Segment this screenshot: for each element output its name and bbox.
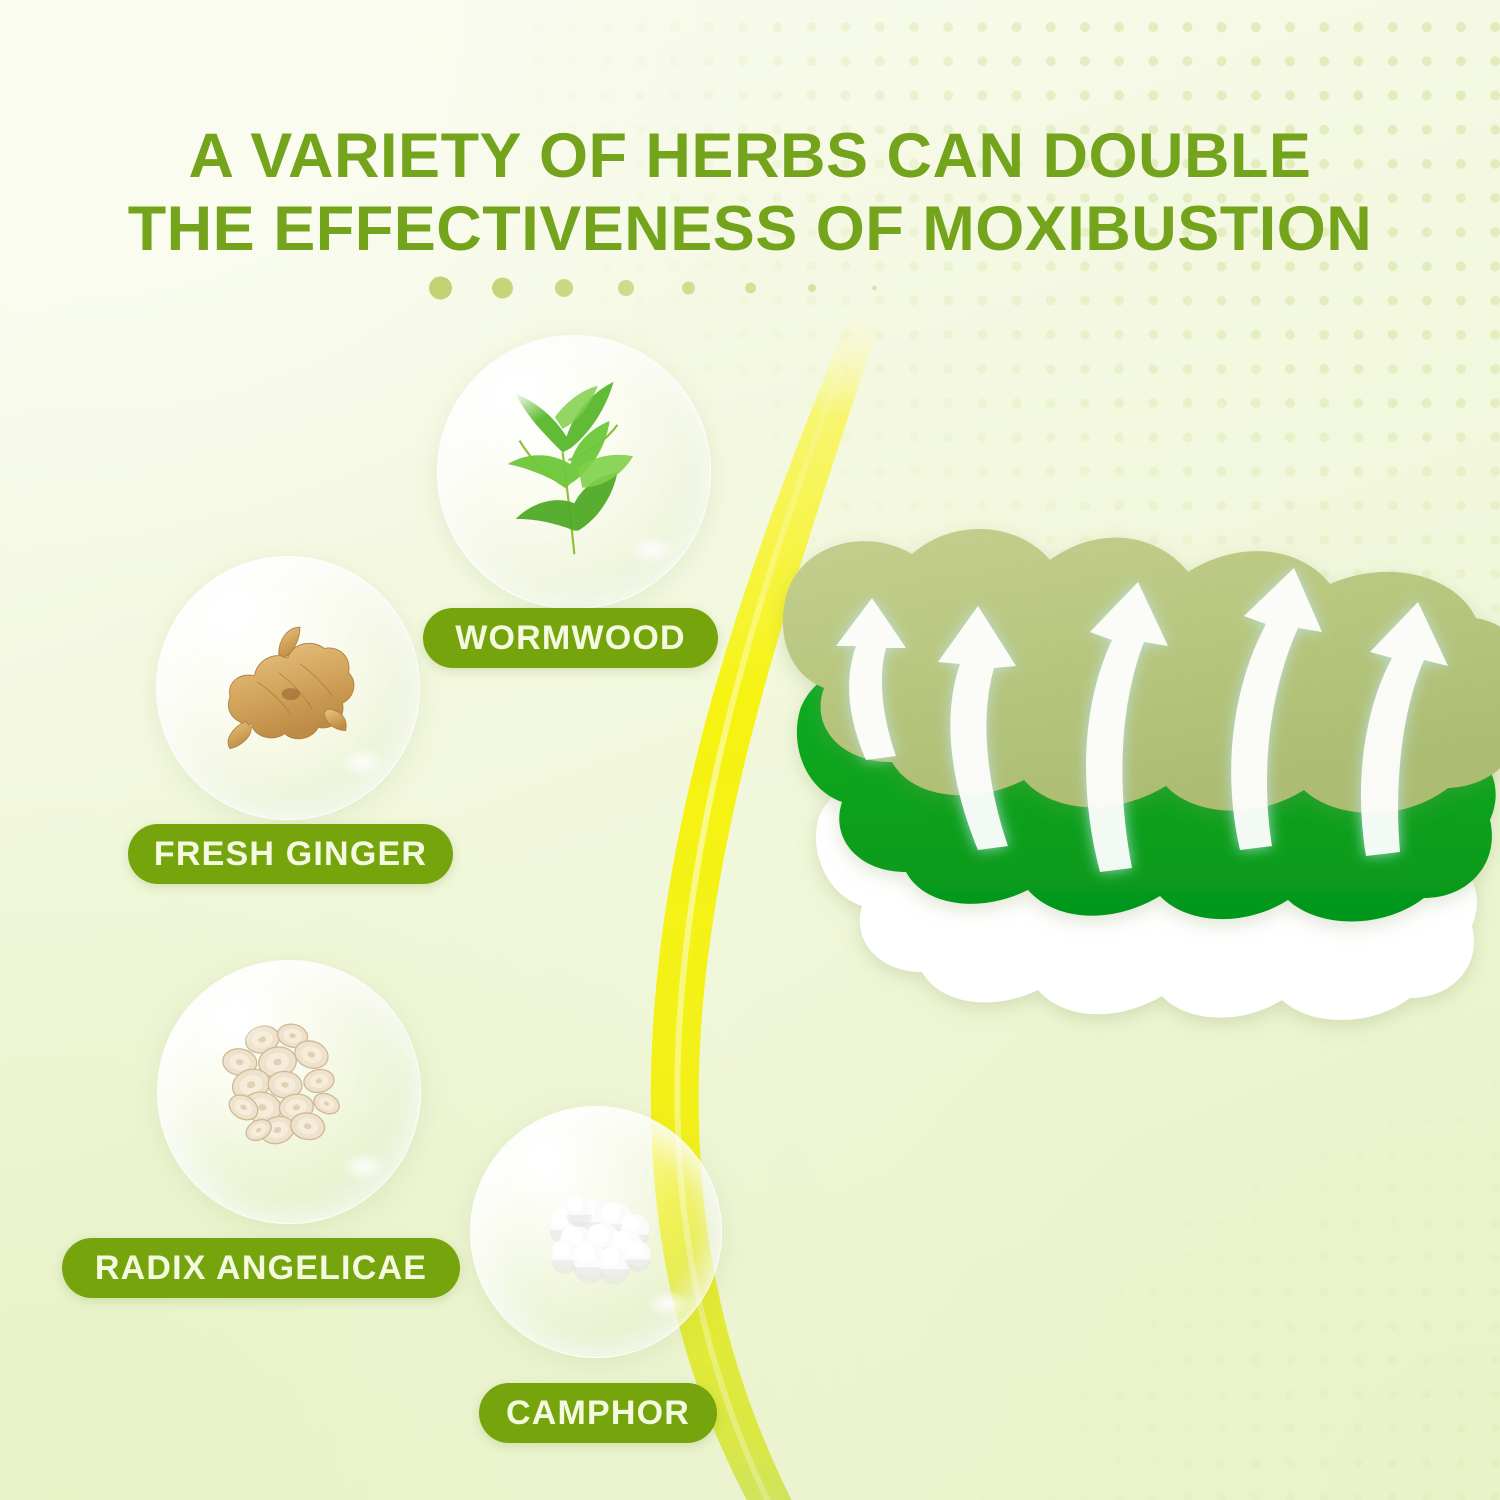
- accent-dot: [555, 279, 573, 297]
- accent-dot: [682, 282, 695, 295]
- bubble-highlight: [628, 535, 674, 565]
- ginger-root-icon: [157, 557, 419, 819]
- headline-line-2: THE EFFECTIVENESS OF MOXIBUSTION: [0, 193, 1500, 266]
- ingredient-bubble-fresh-ginger: [156, 556, 420, 820]
- camphor-balls-icon: [471, 1107, 721, 1357]
- accent-dot: [618, 280, 634, 296]
- ingredient-bubble-camphor: [470, 1106, 722, 1358]
- page-title: A VARIETY OF HERBS CAN DOUBLE THE EFFECT…: [0, 120, 1500, 266]
- accent-dot: [808, 284, 816, 292]
- accent-dot: [492, 278, 513, 299]
- angelica-slices-icon: [158, 961, 420, 1223]
- ingredient-bubble-radix-angelicae: [157, 960, 421, 1224]
- ingredient-label-wormwood[interactable]: WORMWOOD: [423, 608, 718, 668]
- ingredient-label-fresh-ginger[interactable]: FRESH GINGER: [128, 824, 453, 884]
- accent-dot: [429, 277, 452, 300]
- bubble-highlight: [646, 1290, 689, 1318]
- infographic-canvas: A VARIETY OF HERBS CAN DOUBLE THE EFFECT…: [0, 0, 1500, 1500]
- bubble-highlight: [341, 1152, 386, 1181]
- accent-dot-row: [440, 268, 1500, 308]
- accent-dot: [872, 286, 877, 291]
- ingredient-bubble-wormwood: [437, 335, 711, 609]
- wormwood-sprig-icon: [438, 336, 710, 608]
- ingredient-label-radix-angelicae[interactable]: RADIX ANGELICAE: [62, 1238, 460, 1298]
- bubble-highlight: [340, 748, 385, 777]
- moxibustion-patch-layers: [770, 520, 1500, 1140]
- headline-line-1: A VARIETY OF HERBS CAN DOUBLE: [189, 121, 1312, 191]
- ingredient-label-camphor[interactable]: CAMPHOR: [479, 1383, 717, 1443]
- accent-dot: [745, 283, 756, 294]
